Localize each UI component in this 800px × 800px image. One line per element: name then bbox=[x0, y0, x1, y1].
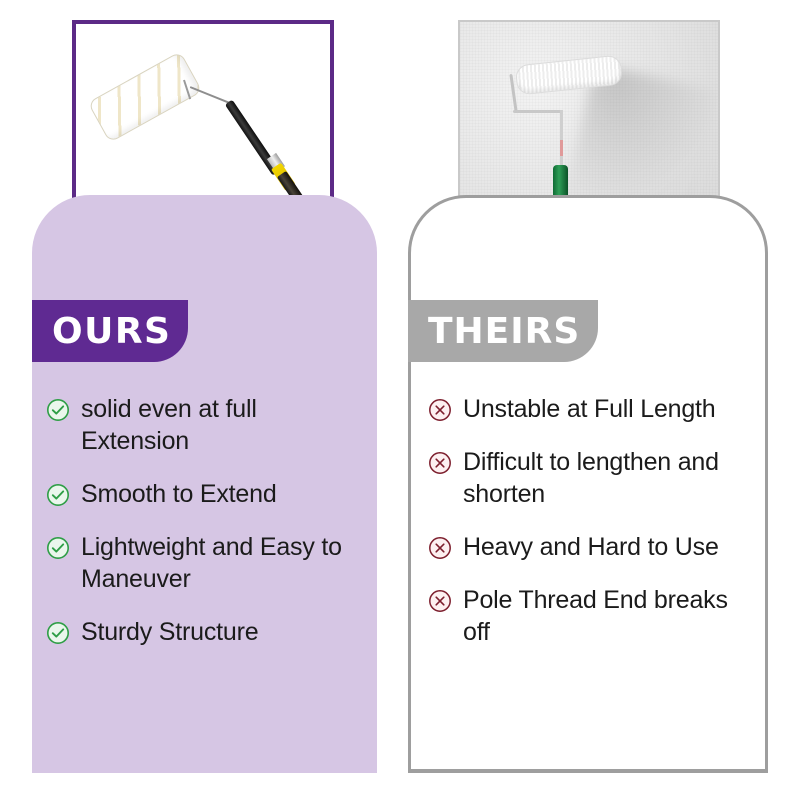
check-circle-icon bbox=[46, 621, 70, 645]
ours-badge-label: OURS bbox=[52, 311, 171, 352]
ours-feature-text: Lightweight and Easy to Maneuver bbox=[81, 531, 368, 595]
list-item: Lightweight and Easy to Maneuver bbox=[46, 531, 368, 595]
list-item: Smooth to Extend bbox=[46, 478, 368, 510]
list-item: Unstable at Full Length bbox=[428, 393, 758, 425]
list-item: Sturdy Structure bbox=[46, 616, 368, 648]
x-circle-icon bbox=[428, 589, 452, 613]
x-circle-icon bbox=[428, 398, 452, 422]
check-circle-icon bbox=[46, 398, 70, 422]
competitor-roller-shaft bbox=[560, 110, 563, 168]
theirs-badge-label: THEIRS bbox=[428, 311, 580, 352]
list-item: Heavy and Hard to Use bbox=[428, 531, 758, 563]
check-circle-icon bbox=[46, 536, 70, 560]
ours-feature-text: solid even at full Extension bbox=[81, 393, 368, 457]
list-item: Pole Thread End breaks off bbox=[428, 584, 758, 648]
theirs-drawback-text: Unstable at Full Length bbox=[463, 393, 716, 425]
competitor-roller-frame-arm bbox=[513, 110, 563, 113]
theirs-feature-list: Unstable at Full Length Difficult to len… bbox=[428, 393, 758, 669]
check-circle-icon bbox=[46, 483, 70, 507]
comparison-infographic: OURS THEIRS solid even at full Extension… bbox=[0, 0, 800, 800]
ours-badge: OURS bbox=[32, 300, 188, 362]
x-circle-icon bbox=[428, 536, 452, 560]
competitor-roller-shaft-marking bbox=[560, 140, 563, 156]
x-circle-icon bbox=[428, 451, 452, 475]
roller-nap-shape bbox=[87, 51, 202, 143]
ours-feature-text: Sturdy Structure bbox=[81, 616, 258, 648]
theirs-badge: THEIRS bbox=[408, 300, 598, 362]
theirs-drawback-text: Pole Thread End breaks off bbox=[463, 584, 758, 648]
theirs-drawback-text: Difficult to lengthen and shorten bbox=[463, 446, 758, 510]
theirs-drawback-text: Heavy and Hard to Use bbox=[463, 531, 719, 563]
ours-feature-list: solid even at full Extension Smooth to E… bbox=[46, 393, 368, 669]
ours-feature-text: Smooth to Extend bbox=[81, 478, 277, 510]
list-item: Difficult to lengthen and shorten bbox=[428, 446, 758, 510]
list-item: solid even at full Extension bbox=[46, 393, 368, 457]
